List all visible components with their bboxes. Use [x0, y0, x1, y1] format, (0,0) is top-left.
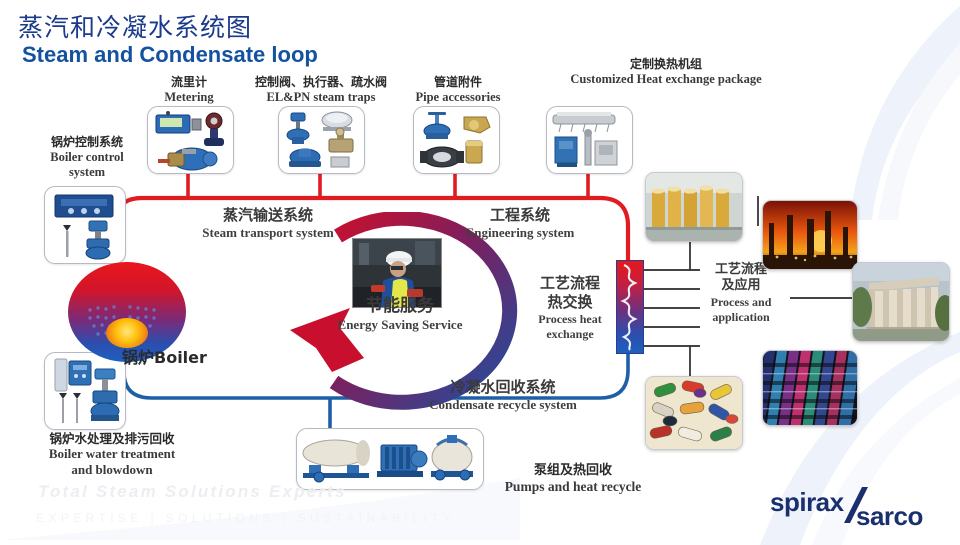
equipment-box-boiler-control[interactable]	[44, 186, 126, 264]
water-treatment-icon	[45, 353, 125, 429]
label-pipe-accessories: 管道附件 Pipe accessories	[396, 76, 520, 105]
spirax-sarco-logo[interactable]: spirax sarco	[770, 487, 950, 529]
boiler-vessel[interactable]	[68, 262, 186, 362]
label-condensate-recycle-system: 冷凝水回收系统 Condensate recycle system	[398, 378, 608, 413]
page-title-chinese: 蒸汽和冷凝水系统图	[18, 8, 252, 44]
equipment-box-water-treatment[interactable]	[44, 352, 126, 430]
background-swoosh-topright	[820, 0, 960, 220]
label-pumps-and-heat-recycle: 泵组及热回收 Pumps and heat recycle	[478, 464, 668, 495]
footer-tagline: Total Steam Solutions Experts	[38, 482, 347, 502]
food-canning-photo	[645, 172, 743, 242]
page-title-english: Steam and Condensate loop	[22, 42, 318, 68]
pipe-accessories-icon	[414, 107, 499, 173]
label-steam-traps: 控制阀、执行器、疏水阀 EL&PN steam traps	[246, 76, 396, 105]
heat-exchanger-unit[interactable]	[616, 260, 644, 354]
label-boiler-control-system: 锅炉控制系统 Boiler control system	[22, 136, 152, 180]
boiler-flame	[106, 318, 148, 348]
heat-exchanger-coil-icon	[617, 261, 643, 353]
label-engineering-system: 工程系统 Engineering system	[440, 206, 600, 241]
label-boiler: 锅炉Boiler	[122, 348, 242, 367]
institutional-building-photo	[852, 262, 950, 342]
refinery-sunset-photo	[762, 200, 858, 270]
label-energy-saving-service: 节能服务 Energy Saving Service	[310, 296, 490, 334]
logo-text-spirax: spirax	[770, 487, 844, 518]
pumps-heat-recycle-icon	[297, 429, 483, 489]
label-process-heat-exchange: 工艺流程 热交换 Process heat exchange	[518, 274, 622, 342]
equipment-box-pumps-heat-recycle[interactable]	[296, 428, 484, 490]
equipment-box-heat-exchange-package[interactable]	[546, 106, 633, 174]
label-process-and-application: 工艺流程 及应用 Process and application	[688, 262, 794, 325]
textile-dyeing-photo	[762, 350, 858, 426]
label-heat-exchange-package: 定制换热机组 Customized Heat exchange package	[524, 58, 808, 87]
boiler-control-panel-icon	[45, 187, 125, 263]
equipment-box-steam-traps[interactable]	[278, 106, 365, 174]
label-metering: 流里计 Metering	[130, 76, 248, 105]
metering-equipment-icon	[148, 107, 233, 173]
equipment-box-pipe-accessories[interactable]	[413, 106, 500, 174]
steam-trap-valves-icon	[279, 107, 364, 173]
slide-canvas: 蒸汽和冷凝水系统图 Steam and Condensate loop	[0, 0, 960, 540]
heat-exchange-package-icon	[547, 107, 632, 173]
logo-text-sarco: sarco	[856, 501, 923, 532]
label-steam-transport-system: 蒸汽输送系统 Steam transport system	[178, 206, 358, 241]
equipment-box-metering[interactable]	[147, 106, 234, 174]
pharmaceutical-capsules-photo	[645, 376, 743, 450]
footer-subtagline: EXPERTISE | SOLUTIONS | SUSTAINABILITY	[36, 511, 455, 525]
label-boiler-water-treatment: 锅炉水处理及排污回收 Boiler water treatment and bl…	[12, 432, 212, 478]
